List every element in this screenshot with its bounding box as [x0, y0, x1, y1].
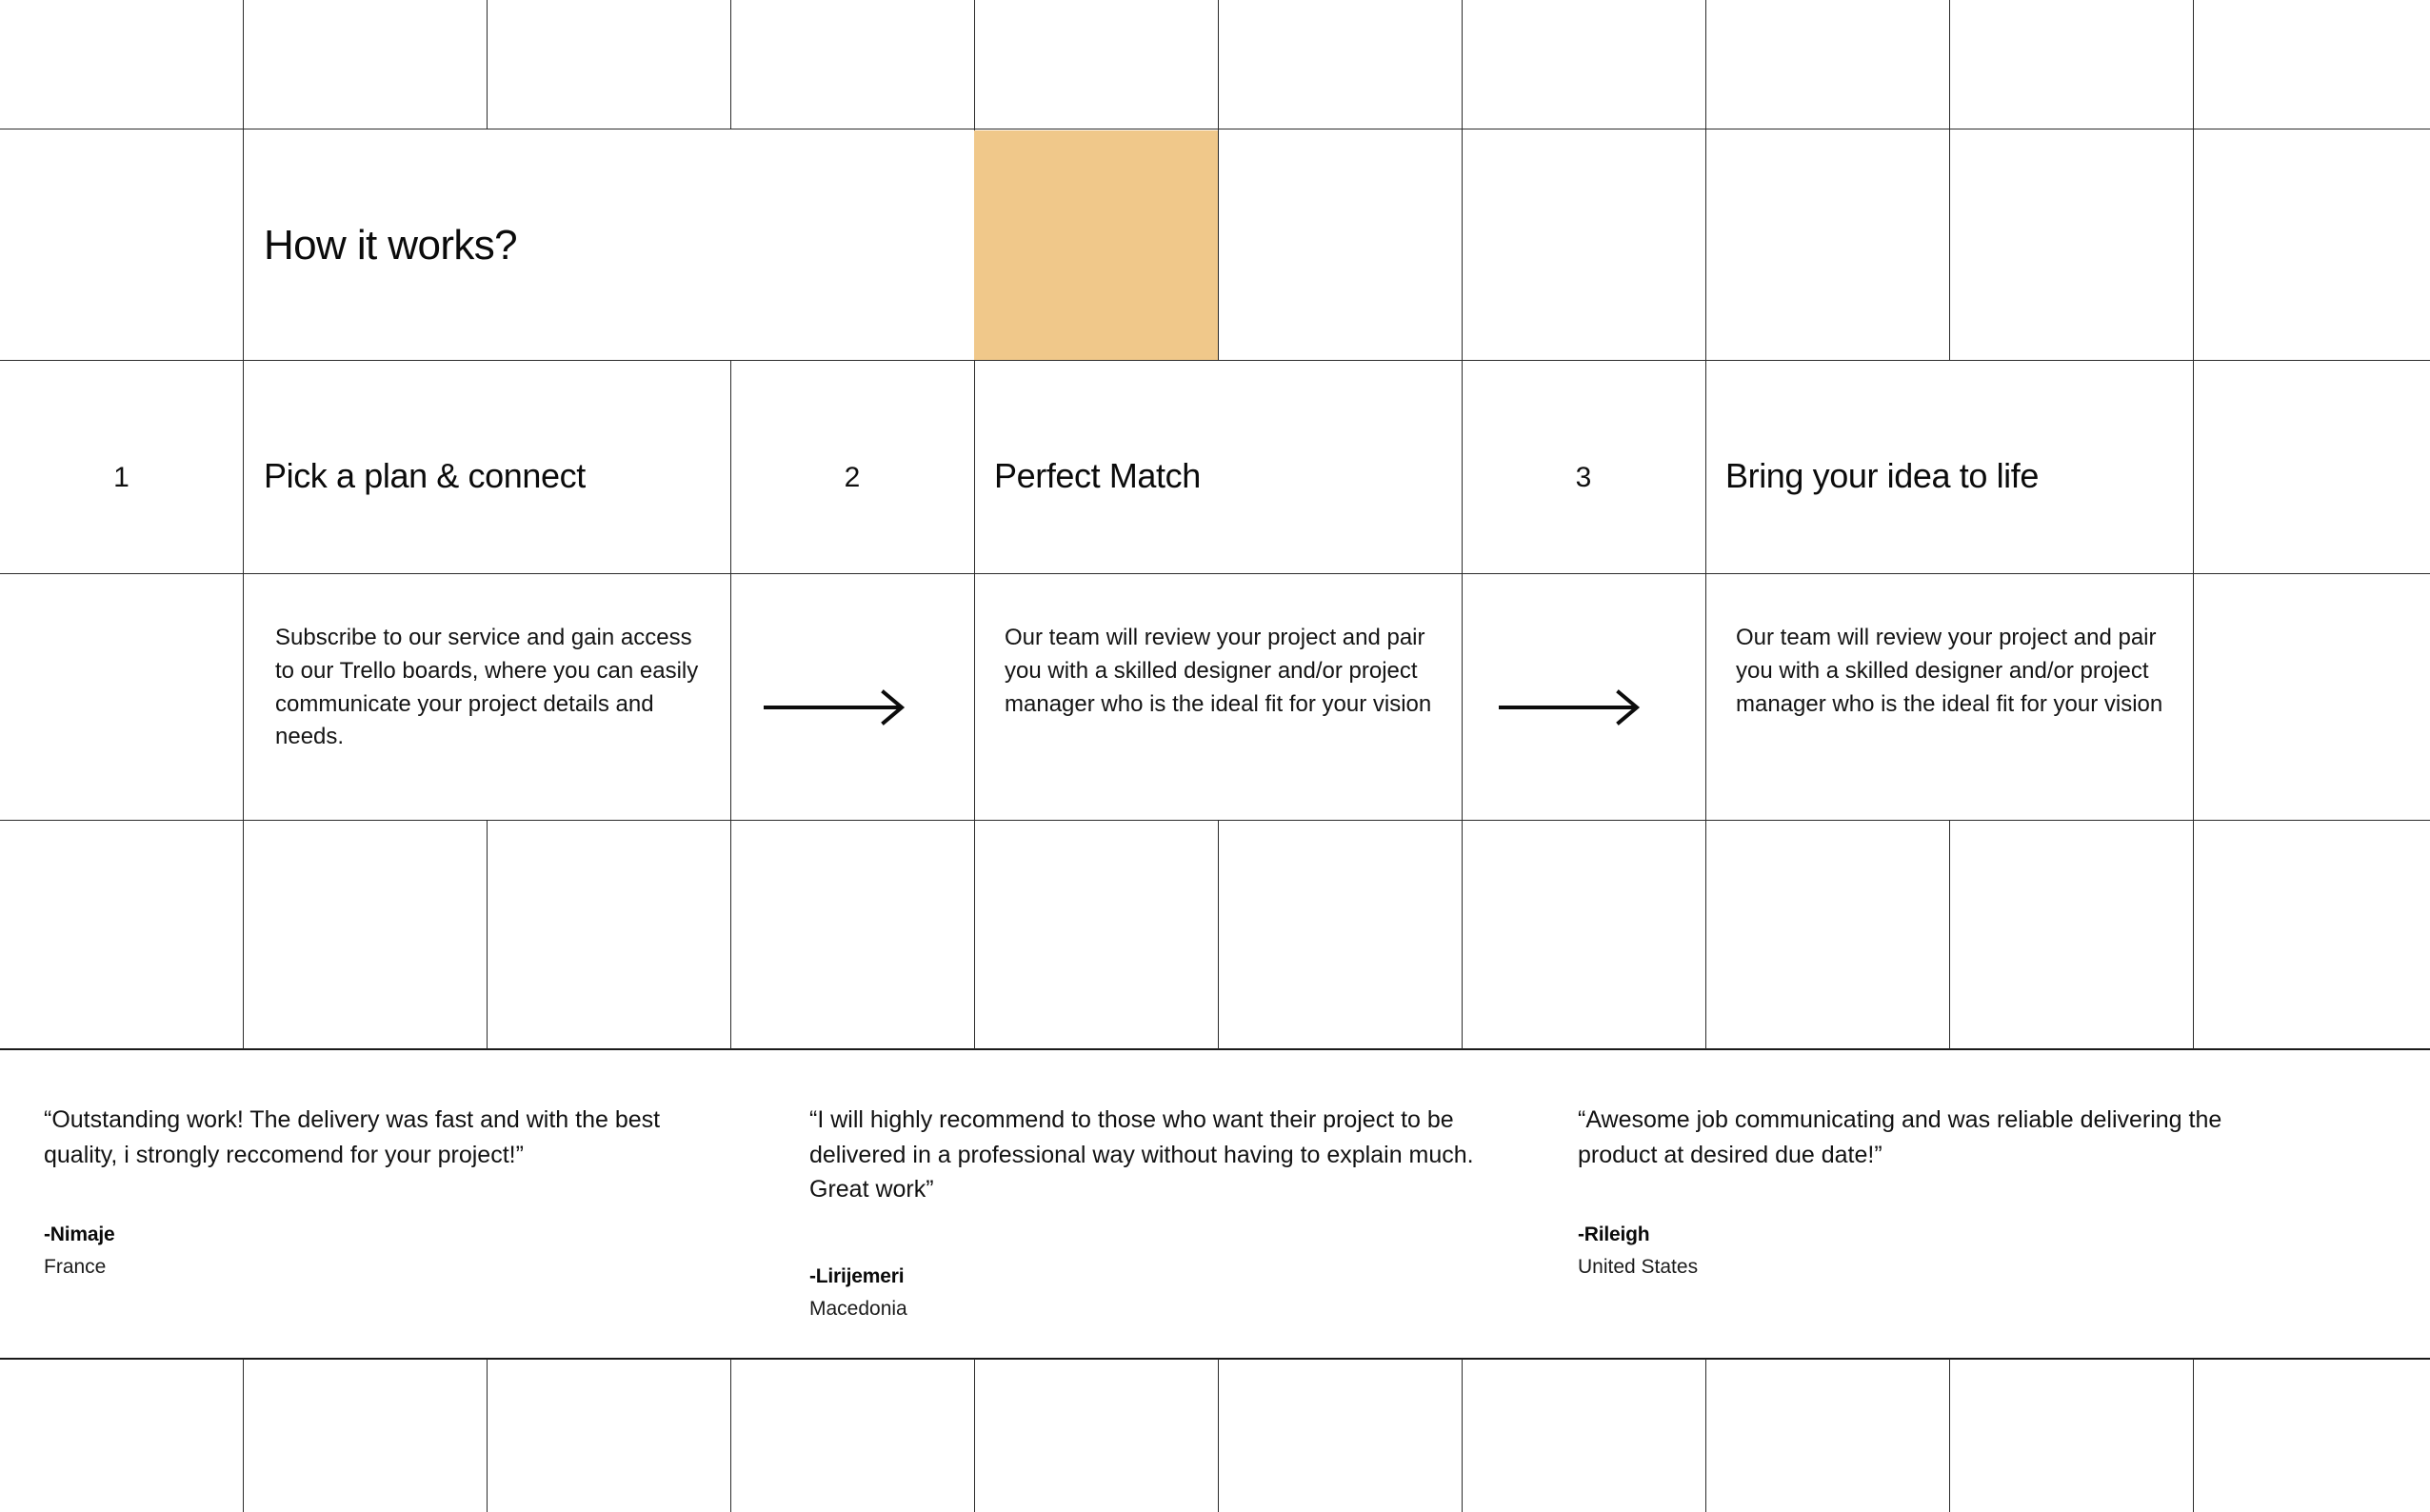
testimonial-country-1: France — [44, 1256, 106, 1279]
grid-vline-a7 — [1705, 0, 1706, 129]
step-body-2: Our team will review your project and pa… — [1005, 622, 1443, 721]
grid-hline-top — [0, 129, 2430, 129]
grid-vline-d3 — [974, 573, 975, 821]
grid-vline-c5 — [1705, 360, 1706, 574]
grid-vline-e7 — [1705, 820, 1706, 1049]
grid-vline-f9 — [2193, 1359, 2194, 1512]
grid-hline-title-steps — [0, 360, 2430, 361]
grid-vline-e1 — [243, 820, 244, 1049]
arrow-right-icon — [1497, 688, 1649, 726]
grid-vline-a8 — [1949, 0, 1950, 129]
step-title-1: Pick a plan & connect — [264, 457, 586, 495]
step-number-2: 2 — [730, 464, 974, 492]
grid-vline-c3 — [974, 360, 975, 574]
grid-vline-b4 — [1462, 129, 1463, 361]
step-body-1: Subscribe to our service and gain access… — [275, 622, 704, 754]
grid-vline-b3 — [1218, 129, 1219, 361]
step-body-3: Our team will review your project and pa… — [1736, 622, 2174, 721]
grid-vline-b7 — [2193, 129, 2194, 361]
grid-vline-f5 — [1218, 1359, 1219, 1512]
grid-vline-a1 — [243, 0, 244, 129]
grid-vline-b6 — [1949, 129, 1950, 361]
grid-vline-c1 — [243, 360, 244, 574]
grid-vline-e8 — [1949, 820, 1950, 1049]
grid-vline-f3 — [730, 1359, 731, 1512]
grid-vline-a6 — [1462, 0, 1463, 129]
testimonial-country-3: United States — [1578, 1256, 1698, 1279]
grid-hline-steps-body — [0, 573, 2430, 574]
testimonial-quote-3: “Awesome job communicating and was relia… — [1578, 1103, 2244, 1172]
grid-vline-a3 — [730, 0, 731, 129]
grid-vline-d2 — [730, 573, 731, 821]
grid-vline-f2 — [487, 1359, 488, 1512]
grid-vline-b1 — [243, 129, 244, 361]
grid-vline-b5 — [1705, 129, 1706, 361]
grid-vline-f7 — [1705, 1359, 1706, 1512]
grid-vline-d1 — [243, 573, 244, 821]
step-number-1: 1 — [0, 464, 243, 492]
grid-vline-a5 — [1218, 0, 1219, 129]
grid-hline-testimonials-top — [0, 1048, 2430, 1050]
testimonial-quote-1: “Outstanding work! The delivery was fast… — [44, 1103, 720, 1172]
grid-vline-e9 — [2193, 820, 2194, 1049]
step-title-2: Perfect Match — [994, 457, 1201, 495]
grid-vline-c6 — [2193, 360, 2194, 574]
grid-vline-a9 — [2193, 0, 2194, 129]
section-title: How it works? — [264, 224, 517, 268]
grid-hline-testimonials-bottom — [0, 1358, 2430, 1360]
grid-vline-d4 — [1462, 573, 1463, 821]
accent-color-block — [974, 130, 1218, 360]
step-title-3: Bring your idea to life — [1725, 457, 2039, 495]
grid-vline-f6 — [1462, 1359, 1463, 1512]
testimonial-quote-2: “I will highly recommend to those who wa… — [809, 1103, 1514, 1207]
grid-vline-e4 — [974, 820, 975, 1049]
grid-vline-d5 — [1705, 573, 1706, 821]
testimonial-country-2: Macedonia — [809, 1298, 907, 1321]
grid-vline-e5 — [1218, 820, 1219, 1049]
testimonial-name-2: -Lirijemeri — [809, 1265, 904, 1288]
grid-vline-e2 — [487, 820, 488, 1049]
grid-hline-body-spacer — [0, 820, 2430, 821]
testimonial-name-1: -Nimaje — [44, 1224, 114, 1246]
grid-vline-f8 — [1949, 1359, 1950, 1512]
arrow-right-icon — [762, 688, 914, 726]
grid-vline-f1 — [243, 1359, 244, 1512]
grid-vline-e6 — [1462, 820, 1463, 1049]
grid-vline-e3 — [730, 820, 731, 1049]
grid-vline-d6 — [2193, 573, 2194, 821]
page-canvas: How it works? 1 Pick a plan & connect Su… — [0, 0, 2430, 1512]
testimonial-name-3: -Rileigh — [1578, 1224, 1649, 1246]
step-number-3: 3 — [1462, 464, 1705, 492]
grid-vline-f4 — [974, 1359, 975, 1512]
grid-vline-a2 — [487, 0, 488, 129]
grid-vline-a4 — [974, 0, 975, 129]
